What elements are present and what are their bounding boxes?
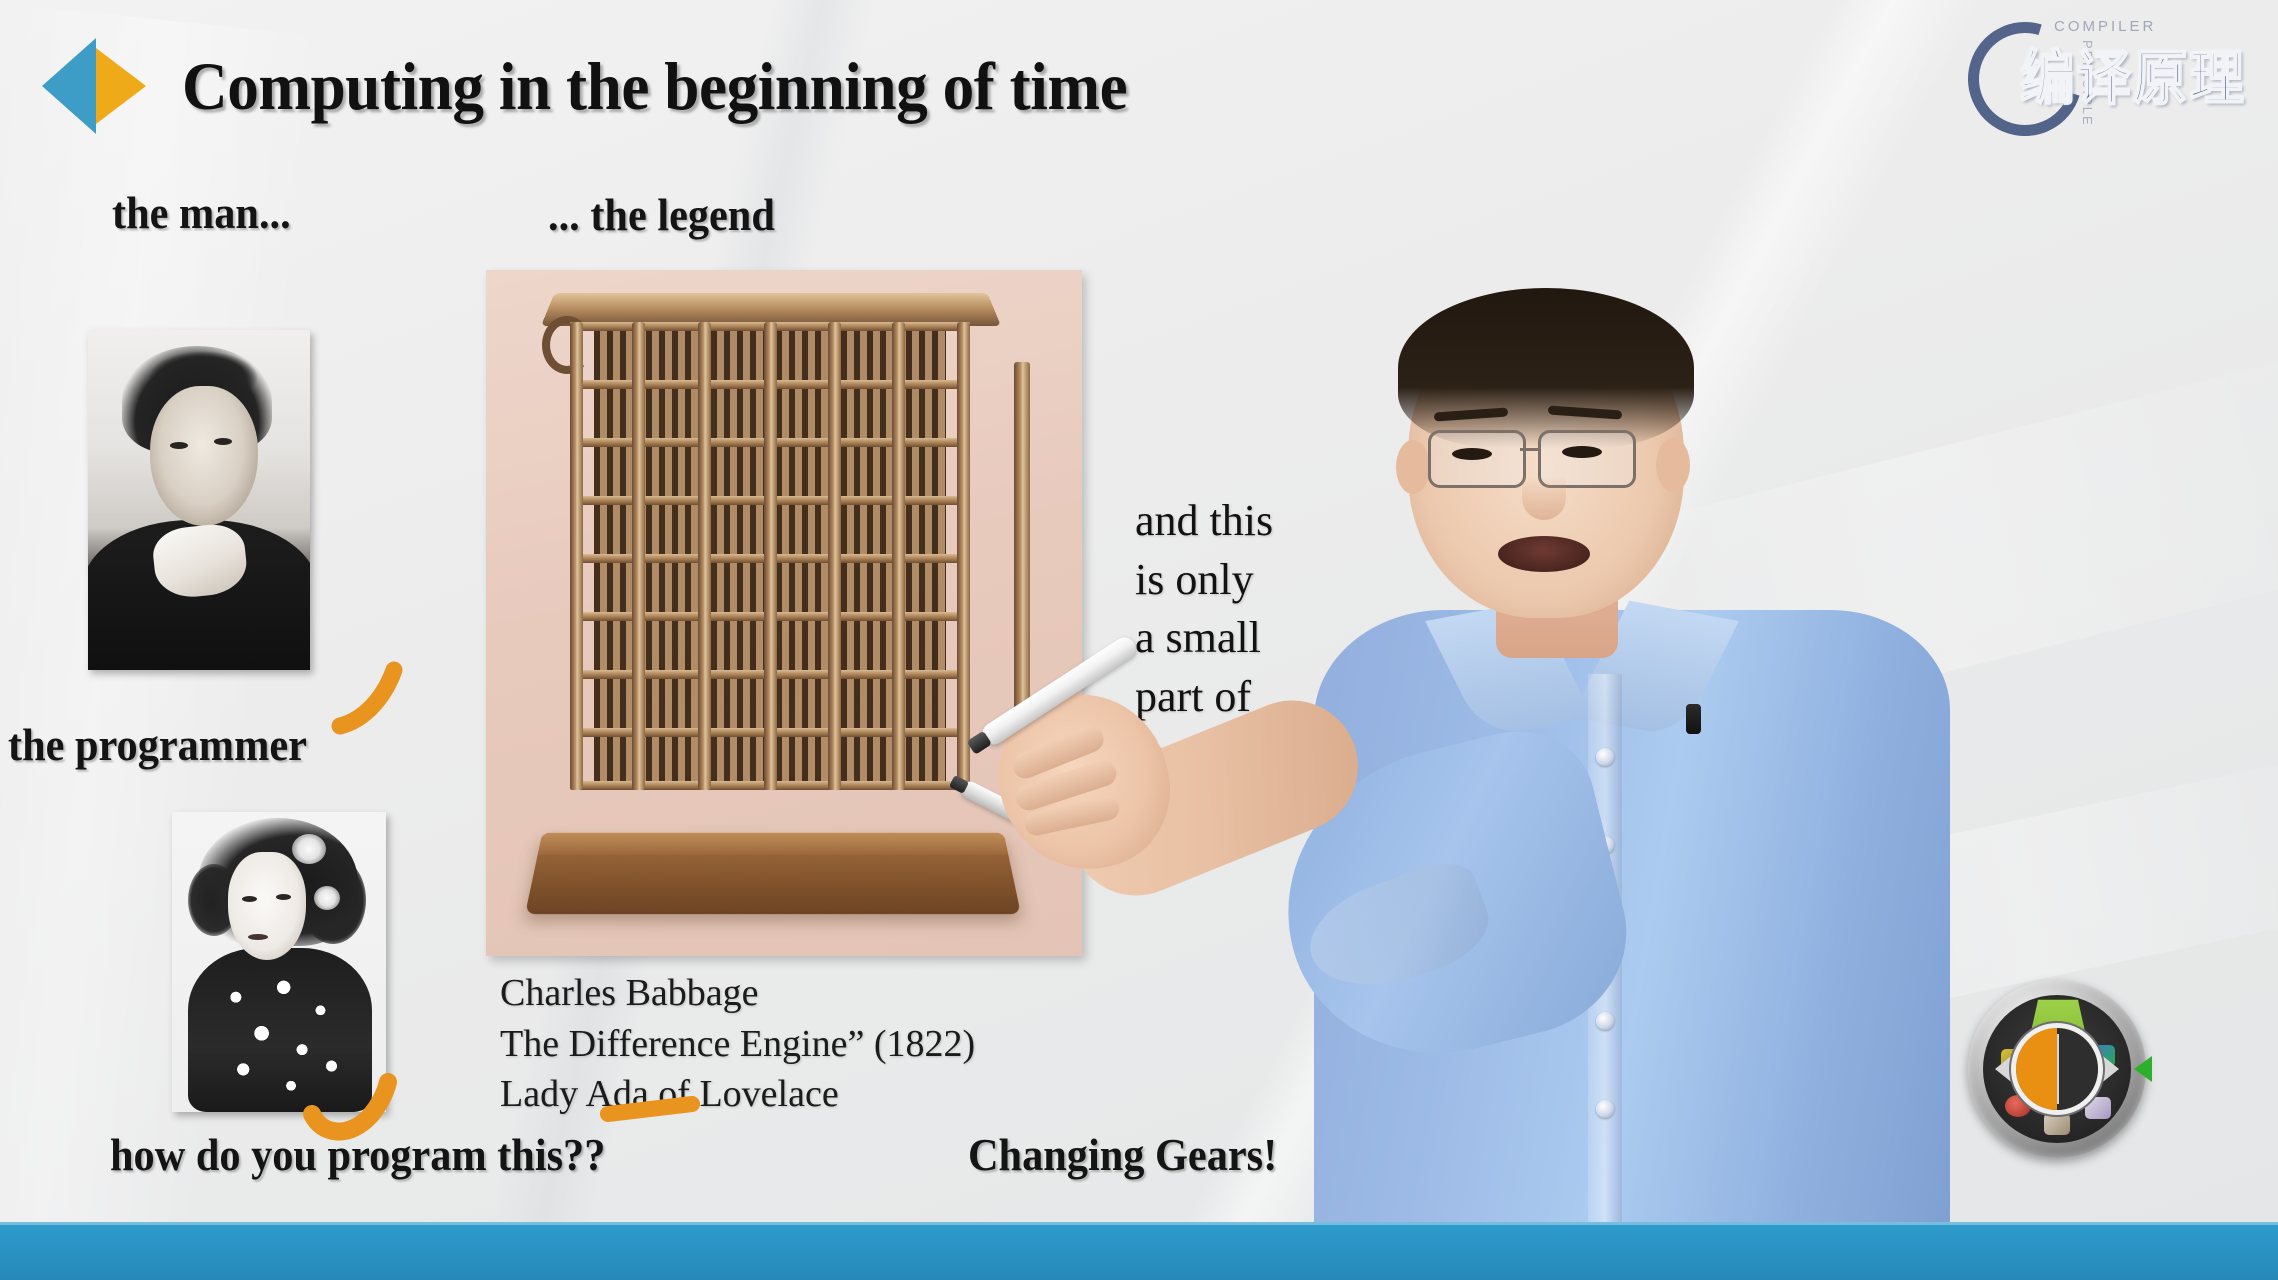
presenter-shirt-button <box>1596 1012 1614 1030</box>
ada-face <box>228 852 306 960</box>
presenter-eye-right <box>1562 446 1602 458</box>
babbage-face <box>150 386 258 526</box>
portrait-charles-babbage <box>88 330 310 670</box>
presenter-ear-right <box>1656 438 1690 492</box>
page-title: Computing in the beginning of time <box>182 47 1127 126</box>
presenter-nose <box>1522 476 1566 520</box>
label-changing-gears: Changing Gears! <box>968 1128 1277 1181</box>
presenter-shirt-button <box>1596 1100 1614 1118</box>
dial-item-icon[interactable] <box>2005 1095 2031 1117</box>
slide-screenshot: Computing in the beginning of time the m… <box>0 0 2278 1280</box>
engine-frame <box>570 322 970 790</box>
presenter-video-overlay <box>1300 280 1980 1280</box>
engine-caption: Charles Babbage The Difference Engine” (… <box>500 968 975 1120</box>
dial-center-hub[interactable] <box>2016 1028 2098 1110</box>
band-highlight <box>0 1222 2278 1225</box>
next-arrow-icon[interactable] <box>2099 1053 2119 1085</box>
label-the-legend: ... the legend <box>548 188 775 241</box>
ada-flower-icon <box>314 886 340 910</box>
label-the-man: the man... <box>112 186 291 239</box>
channel-watermark-logo: COMPILER PRINCIPLE 编译原理 <box>1962 4 2262 150</box>
presenter-hair <box>1398 288 1694 448</box>
dial-inner-face <box>1983 995 2131 1143</box>
ada-lace-dress <box>188 948 372 1112</box>
presenter-shirt-button <box>1596 748 1614 766</box>
radial-menu-dial[interactable] <box>1968 980 2146 1158</box>
presenter-lapel-mic-icon <box>1686 704 1701 734</box>
bullet-diamond-icon <box>34 38 154 134</box>
portrait-ada-lovelace <box>172 812 386 1112</box>
ada-eye-left <box>242 896 257 902</box>
label-how-do-you-program: how do you program this?? <box>110 1128 605 1181</box>
label-the-programmer: the programmer <box>8 718 307 771</box>
bottom-blue-band <box>0 1222 2278 1280</box>
triangle-right-icon <box>96 48 146 124</box>
presenter-mouth <box>1498 536 1590 572</box>
slide-title-row: Computing in the beginning of time <box>34 38 1198 134</box>
engine-wooden-base <box>525 833 1021 914</box>
babbage-eye-left <box>170 442 188 449</box>
dial-item-icon[interactable] <box>2085 1097 2111 1119</box>
presenter-glasses-bridge <box>1520 448 1540 451</box>
watermark-chinese-text: 编译原理 <box>2020 30 2246 116</box>
ada-flower-icon <box>292 834 326 864</box>
engine-base-top <box>538 833 1009 855</box>
babbage-eye-right <box>214 438 232 445</box>
ada-eye-right <box>276 894 291 900</box>
dial-item-icon[interactable] <box>2044 1113 2070 1135</box>
presenter-eye-left <box>1452 448 1492 460</box>
ada-lips <box>248 934 268 940</box>
green-play-icon[interactable] <box>2134 1056 2152 1082</box>
photo-difference-engine <box>486 270 1082 956</box>
triangle-left-icon <box>42 38 96 134</box>
prev-arrow-icon[interactable] <box>1995 1053 2015 1085</box>
presenter-ear-left <box>1396 440 1430 494</box>
